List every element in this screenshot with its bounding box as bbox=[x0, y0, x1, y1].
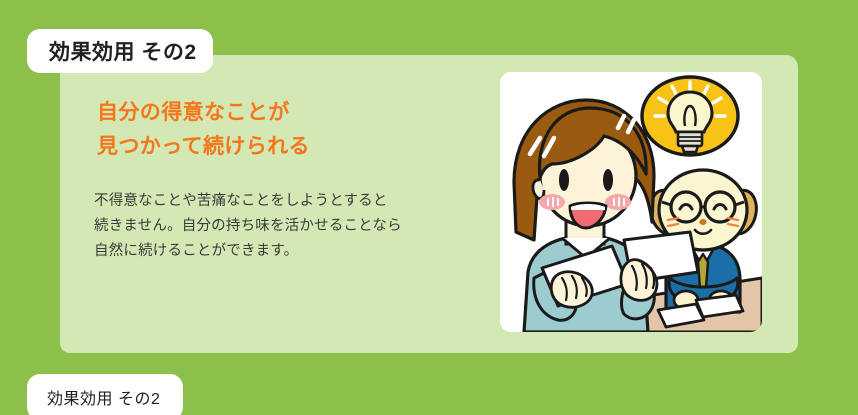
headline-line-1: 自分の得意なことが bbox=[97, 96, 474, 130]
section-tab-top: 効果効用 その2 bbox=[27, 29, 213, 73]
body-copy: 不得意なことや苦痛なことをしようとすると 続きません。自分の持ち味を活かせること… bbox=[94, 189, 474, 264]
body-copy-line-1: 不得意なことや苦痛なことをしようとすると bbox=[94, 189, 474, 214]
headline-line-2: 見つかって続けられる bbox=[97, 130, 474, 164]
body-copy-line-2: 続きません。自分の持ち味を活かせることなら bbox=[94, 214, 474, 239]
infographic-slide: 効果効用 その2 自分の得意なことが 見つかって続けられる 不得意なことや苦痛な… bbox=[0, 0, 858, 415]
section-tab-bottom-label: 効果効用 その2 bbox=[47, 385, 160, 409]
body-copy-line-3: 自然に続けることができます。 bbox=[94, 239, 474, 264]
headline: 自分の得意なことが 見つかって続けられる bbox=[97, 96, 474, 164]
illustration-svg bbox=[500, 72, 762, 332]
section-tab-top-label: 効果効用 その2 bbox=[49, 36, 197, 66]
section-tab-bottom: 効果効用 その2 bbox=[27, 374, 183, 415]
illustration-card bbox=[500, 72, 762, 332]
text-column: 自分の得意なことが 見つかって続けられる 不得意なことや苦痛なことをしようとする… bbox=[94, 96, 474, 264]
